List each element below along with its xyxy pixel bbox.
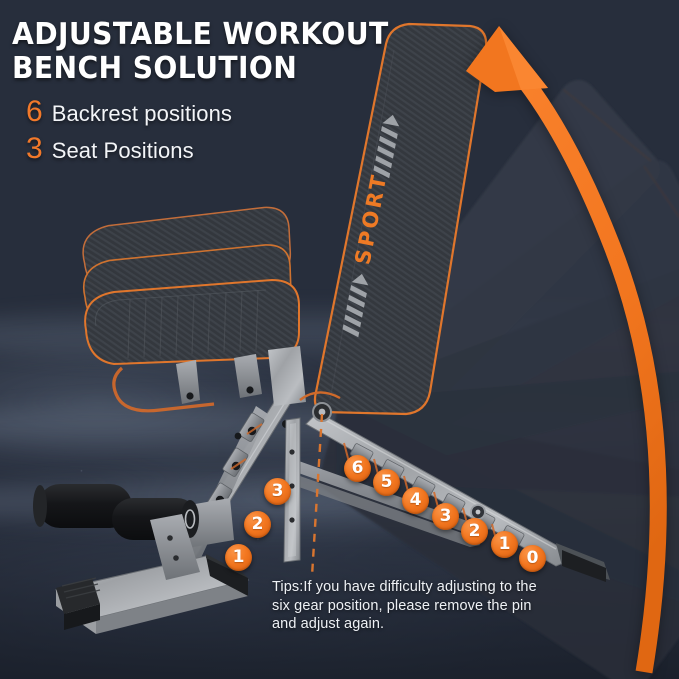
- tips-line-1: Tips:If you have difficulty adjusting to…: [272, 578, 602, 597]
- tips-line-2: six gear position, please remove the pin: [272, 597, 602, 616]
- tips-text: Tips:If you have difficulty adjusting to…: [272, 578, 602, 634]
- backrest-badge-1: 1: [491, 531, 518, 558]
- seat-badge-2: 2: [244, 511, 271, 538]
- backrest-badge-3: 3: [432, 503, 459, 530]
- backrest-badge-2: 2: [461, 518, 488, 545]
- backrest-badge-0: 0: [519, 545, 546, 572]
- backrest-badge-4: 4: [402, 487, 429, 514]
- backrest-badge-6: 6: [344, 455, 371, 482]
- seat-badge-1: 1: [225, 544, 252, 571]
- product-infographic: SPORT: [0, 0, 679, 679]
- backrest-badge-5: 5: [373, 469, 400, 496]
- tips-line-3: and adjust again.: [272, 615, 602, 634]
- seat-badge-3: 3: [264, 478, 291, 505]
